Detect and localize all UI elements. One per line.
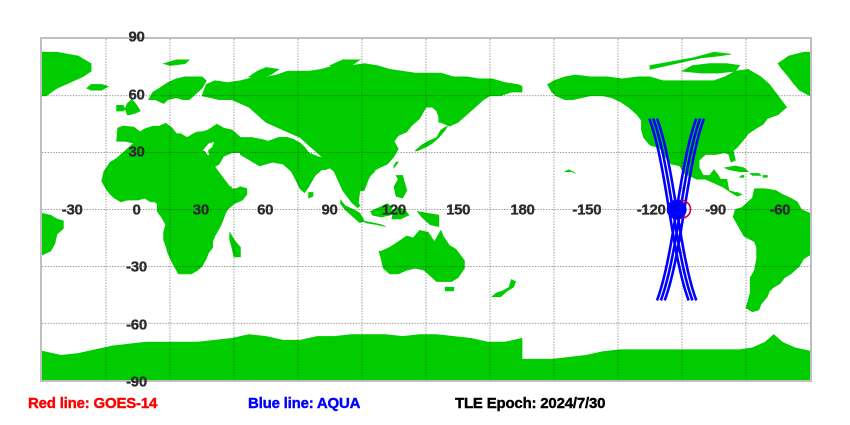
legend-tle-epoch: TLE Epoch: 2024/7/30 bbox=[455, 396, 605, 411]
legend-blue-line-aqua: Blue line: AQUA bbox=[248, 396, 360, 411]
satellite-track-map-app: -300306090120150180-150-120-90-60 906030… bbox=[0, 0, 850, 425]
map-clip bbox=[42, 39, 810, 380]
map-legend-caption: Red line: GOES-14 Blue line: AQUA TLE Ep… bbox=[0, 396, 850, 420]
aqua-satellite-marker bbox=[667, 200, 687, 220]
legend-red-line-goes14: Red line: GOES-14 bbox=[28, 396, 157, 411]
orbit-track-layer bbox=[42, 39, 810, 380]
map-plot-area bbox=[40, 37, 812, 382]
